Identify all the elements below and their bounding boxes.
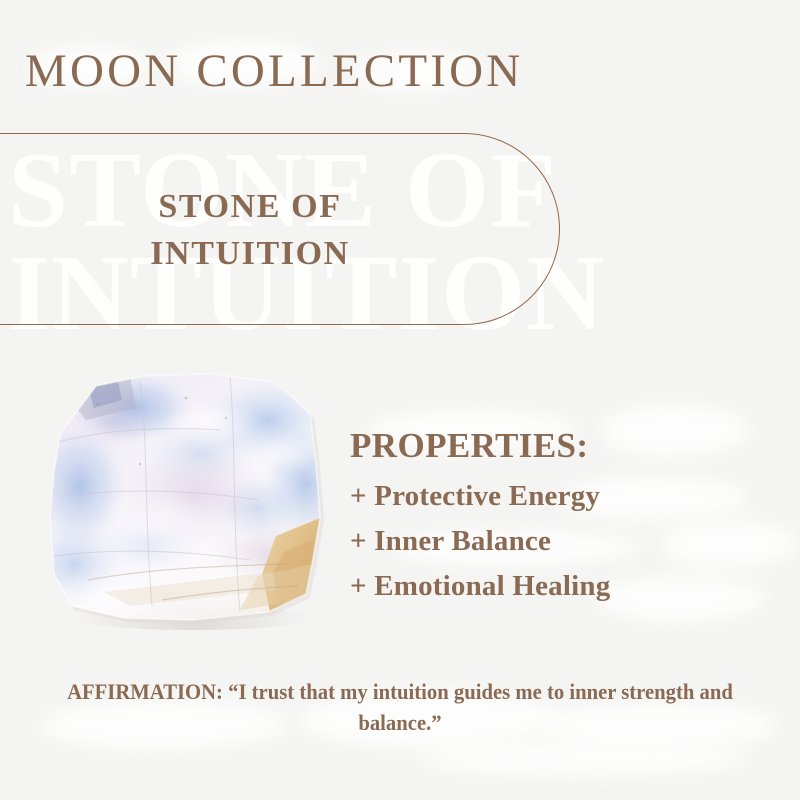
poster-canvas: STONE OF INTUITION MOON COLLECTION STONE… — [0, 0, 800, 800]
affirmation-text: AFFIRMATION: “I trust that my intuition … — [54, 676, 746, 738]
texture-blob — [660, 520, 800, 568]
stone-title: STONE OF INTUITION — [0, 134, 500, 326]
stone-title-badge: STONE OF INTUITION — [0, 133, 560, 325]
stone-title-line-2: INTUITION — [150, 233, 350, 274]
texture-blob — [596, 576, 766, 622]
moonstone-svg — [44, 368, 334, 638]
property-item: + Inner Balance — [350, 519, 610, 564]
properties-heading: PROPERTIES: — [350, 428, 610, 463]
texture-blob — [600, 404, 750, 458]
properties-section: PROPERTIES: + Protective Energy + Inner … — [350, 428, 610, 610]
page-title: MOON COLLECTION — [25, 44, 523, 98]
stone-title-line-1: STONE OF — [158, 186, 341, 227]
moonstone-crystal-image — [44, 368, 334, 638]
property-item: + Emotional Healing — [350, 564, 610, 609]
property-item: + Protective Energy — [350, 474, 610, 519]
texture-blob — [420, 742, 750, 776]
